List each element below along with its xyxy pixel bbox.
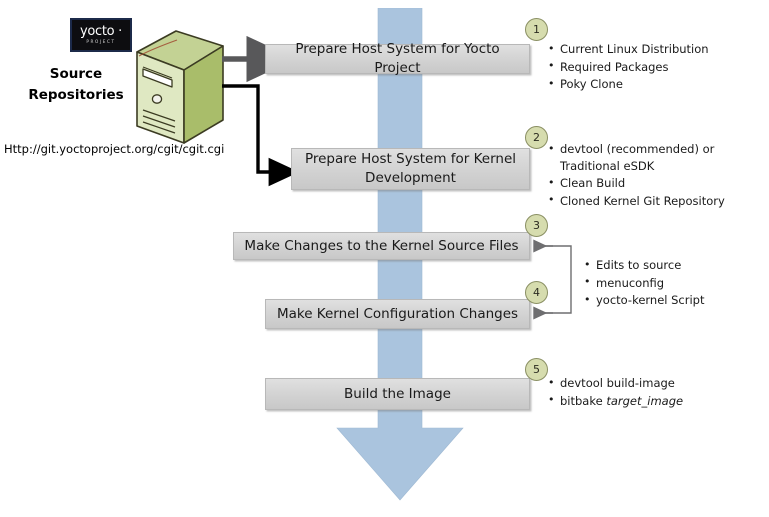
source-repositories-label-line1: Source (16, 64, 136, 85)
process-box-build-the-image[interactable]: Build the Image (265, 378, 530, 410)
source-repositories-label-line2: Repositories (16, 85, 136, 106)
bullet-item-emphasis: target_image (606, 394, 683, 408)
step-3-4-bullet-list: Edits to sourcemenuconfigyocto-kernel Sc… (584, 257, 764, 310)
step-1-bullet-list: Current Linux DistributionRequired Packa… (548, 41, 763, 94)
bullet-item: Clean Build (548, 175, 763, 192)
bullet-item: Cloned Kernel Git Repository (548, 193, 763, 210)
step-number-badge-5: 5 (525, 358, 548, 381)
bullet-item: yocto-kernel Script (584, 292, 764, 309)
yocto-project-logo: yocto · PROJECT (70, 18, 132, 52)
step-5-bullet-list: devtool build-imagebitbake target_image (548, 375, 763, 410)
process-box-prepare-host-kernel[interactable]: Prepare Host System for Kernel Developme… (291, 148, 530, 190)
source-repositories-label: Source Repositories (16, 64, 136, 106)
yocto-logo-subtext: PROJECT (86, 39, 115, 45)
bullet-item: bitbake target_image (548, 393, 763, 410)
process-box-prepare-host-yocto[interactable]: Prepare Host System for Yocto Project (265, 44, 530, 74)
step-number-badge-1: 1 (525, 18, 548, 41)
step-2-bullet-list: devtool (recommended) or Traditional eSD… (548, 141, 763, 210)
bullet-item: devtool (recommended) or Traditional eSD… (548, 141, 763, 174)
bullet-item: menuconfig (584, 275, 764, 292)
step-number-badge-3: 3 (525, 214, 548, 237)
bullet-item: Required Packages (548, 59, 763, 76)
server-tower-icon (134, 28, 226, 146)
diagram-canvas: yocto · PROJECT Source Repositories Http… (0, 0, 769, 517)
step-number-badge-2: 2 (525, 126, 548, 149)
bullet-item: devtool build-image (548, 375, 763, 392)
bullet-item: Edits to source (584, 257, 764, 274)
process-box-make-kernel-config-changes[interactable]: Make Kernel Configuration Changes (265, 299, 530, 329)
process-box-make-kernel-source-changes[interactable]: Make Changes to the Kernel Source Files (233, 232, 530, 260)
step-number-badge-4: 4 (525, 281, 548, 304)
yocto-logo-wordmark: yocto · (80, 25, 122, 38)
bullet-item: Poky Clone (548, 76, 763, 93)
bullet-item: Current Linux Distribution (548, 41, 763, 58)
